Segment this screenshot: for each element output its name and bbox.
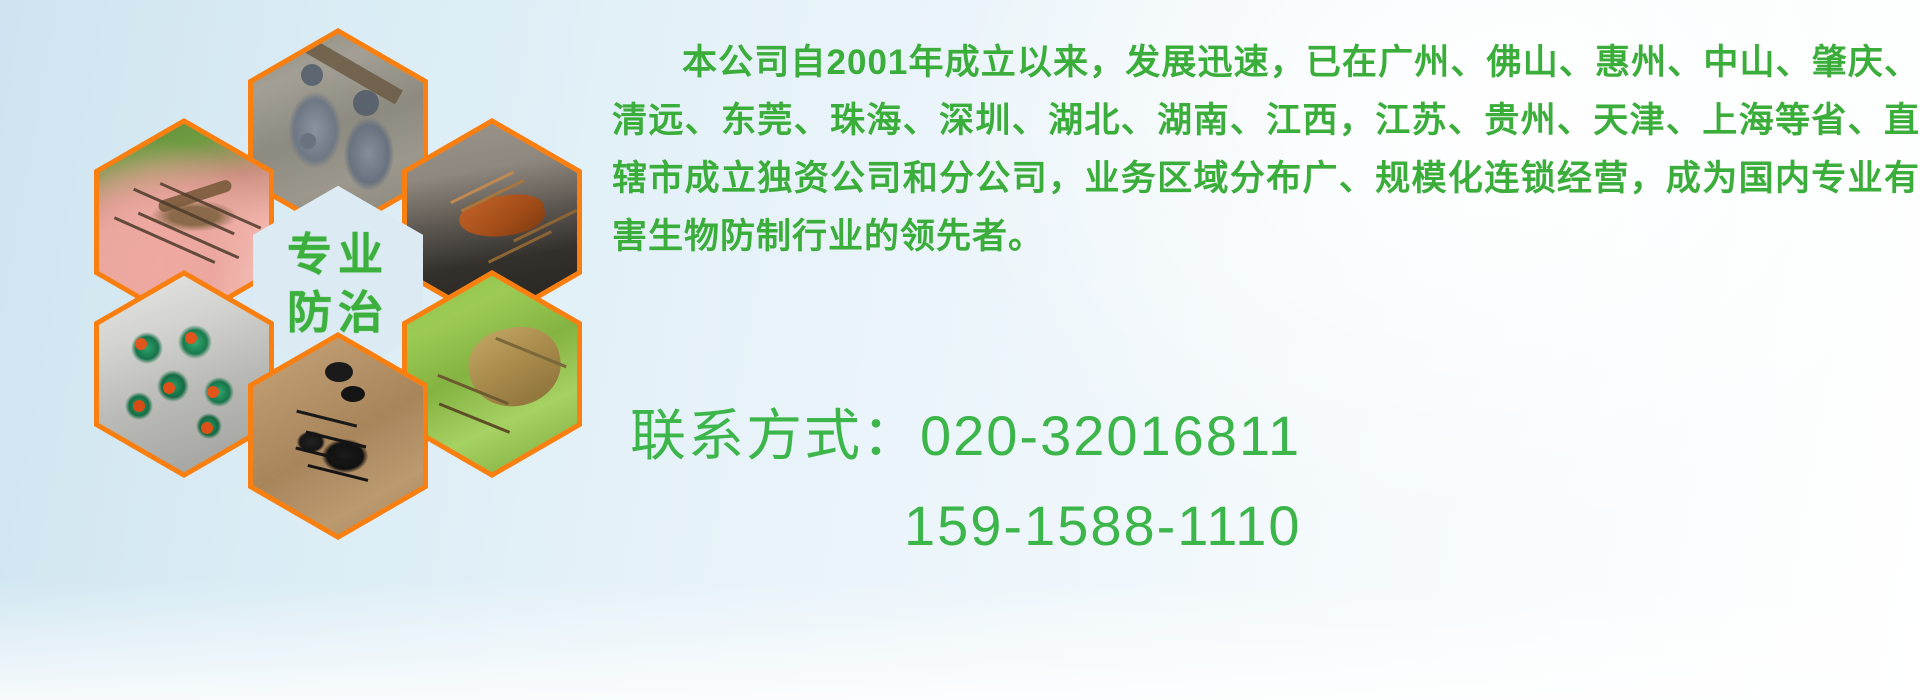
hex-inner-flies (99, 276, 269, 472)
company-description: 本公司自2001年成立以来，发展迅速，已在广州、佛山、惠州、中山、肇庆、清远、东… (612, 34, 1920, 266)
pest-control-banner: 专业 防治 本公司自2001年成立以来，发展迅速，已在广州、佛山、惠州、中山、 (0, 0, 1920, 700)
flies-photo (99, 276, 269, 472)
contact-secondary-line[interactable]: 159-1588-1110 (612, 490, 1920, 562)
hex-inner-ant (253, 338, 423, 534)
ants-photo (253, 338, 423, 534)
stinkbug-photo (407, 276, 577, 472)
hex-cell-flies[interactable] (94, 270, 274, 478)
honeycomb-title-line1: 专业 (287, 226, 389, 284)
phone-secondary[interactable]: 159-1588-1110 (904, 494, 1302, 557)
contact-label: 联系方式： (630, 404, 920, 467)
honeycomb-gallery: 专业 防治 (80, 0, 600, 560)
hex-cell-ant[interactable] (248, 332, 428, 540)
contact-block: 联系方式：020-32016811 159-1588-1110 (612, 400, 1920, 562)
phone-primary[interactable]: 020-32016811 (920, 404, 1301, 467)
contact-primary-line[interactable]: 联系方式：020-32016811 (612, 400, 1920, 472)
hex-inner-stinkbug (407, 276, 577, 472)
hex-cell-stinkbug[interactable] (402, 270, 582, 478)
content-column: 本公司自2001年成立以来，发展迅速，已在广州、佛山、惠州、中山、肇庆、清远、东… (612, 0, 1920, 700)
